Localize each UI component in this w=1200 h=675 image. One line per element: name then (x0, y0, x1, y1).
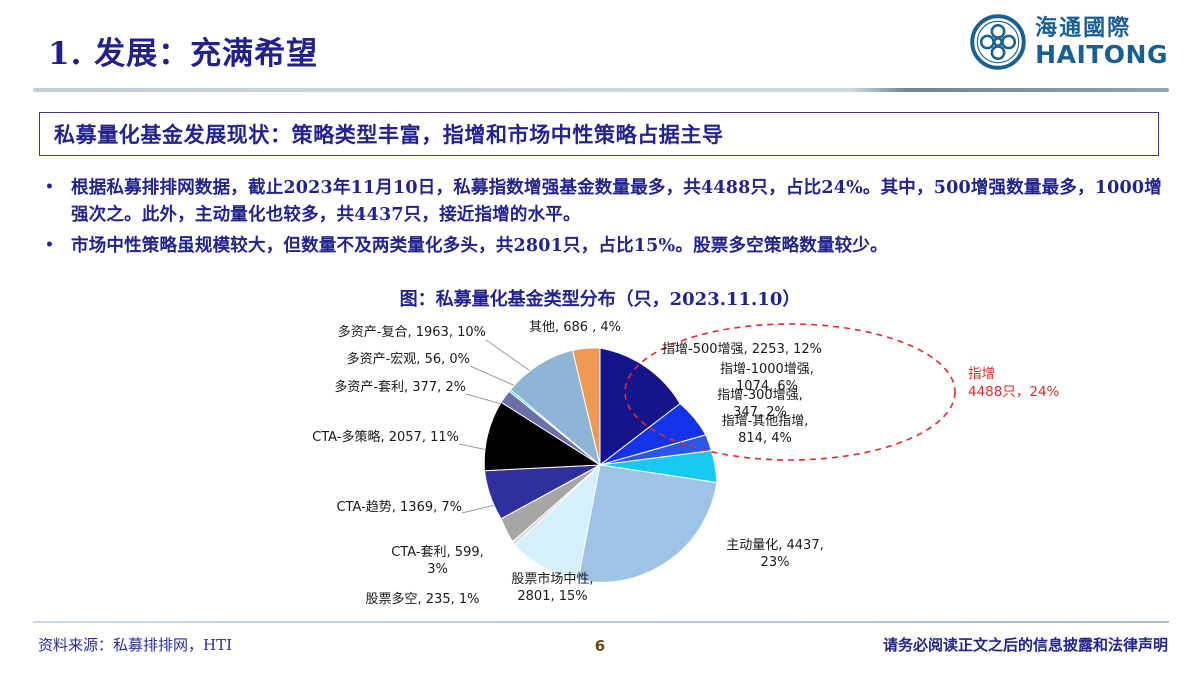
chart-title: 图：私募量化基金类型分布（只，2023.11.10） (0, 285, 1200, 311)
zhizeng-annotation: 指增 4488只，24% (968, 365, 1059, 401)
pie-label-duozichan-taoli: 多资产-套利, 377, 2% (36, 380, 466, 397)
pie-label-duozichan-hongguan: 多资产-宏观, 56, 0% (36, 352, 470, 369)
bullet-marker-icon: • (45, 175, 71, 200)
footer-divider (33, 621, 1169, 623)
pie-label-shichang-zhongxing-line1: 股票市场中性, (511, 572, 593, 587)
bullet-marker-icon: • (45, 233, 71, 258)
bullet-text: 根据私募排排网数据，截止2023年11月10日，私募指数增强基金数量最多，共44… (71, 175, 1170, 229)
pie-label-zhizeng-other-line1: 指增-其他指增, (722, 414, 809, 429)
page-title: 1. 发展：充满希望 (48, 28, 318, 73)
pie-label-zhizeng-other-line2: 814, 4% (738, 431, 792, 446)
logo-text-en: HAITONG (1035, 42, 1168, 67)
pie-label-cta-duocelue: CTA-多策略, 2057, 11% (36, 430, 459, 447)
pie-label-zhudong-line2: 23% (761, 555, 790, 570)
pie-chart: 多资产-复合, 1963, 10% 多资产-宏观, 56, 0% 多资产-套利,… (0, 310, 1200, 620)
disclaimer-note: 请务必阅读正文之后的信息披露和法律声明 (883, 634, 1168, 655)
logo-wordmark: 海通國際 HAITONG (1035, 18, 1168, 67)
bullet-text: 市场中性策略虽规模较大，但数量不及两类量化多头，共2801只，占比15%。股票多… (71, 233, 1170, 260)
zhizeng-annotation-line2: 4488只，24% (968, 384, 1059, 400)
pie-label-shichang-zhongxing: 股票市场中性, 2801, 15% (470, 572, 635, 605)
pie-label-zhudong-line1: 主动量化, 4437, (726, 538, 823, 553)
zhizeng-annotation-line1: 指增 (968, 366, 995, 382)
pie-label-zhizeng-300-line1: 指增-300增强, (717, 388, 803, 403)
pie-label-qita: 其他, 686 , 4% (485, 320, 665, 337)
slide: 1. 发展：充满希望 海通國際 HAITONG 私募量化基金发展现状：策略类型丰… (0, 0, 1200, 675)
bullet-list: • 根据私募排排网数据，截止2023年11月10日，私募指数增强基金数量最多，共… (45, 175, 1170, 264)
pie-label-zhudong-lianghua: 主动量化, 4437, 23% (690, 538, 860, 571)
pie-label-duozichan-fuhe: 多资产-复合, 1963, 10% (36, 325, 486, 342)
pie-label-cta-qushi: CTA-趋势, 1369, 7% (36, 500, 462, 517)
pie-label-zhizeng-other: 指增-其他指增, 814, 4% (660, 414, 870, 447)
pie-label-shichang-zhongxing-line2: 2801, 15% (517, 589, 587, 604)
section-banner: 私募量化基金发展现状：策略类型丰富，指增和市场中性策略占据主导 (39, 112, 1159, 156)
section-banner-text: 私募量化基金发展现状：策略类型丰富，指增和市场中性策略占据主导 (40, 119, 724, 149)
pie-label-cta-taoli-line1: CTA-套利, 599, (391, 545, 484, 560)
logo-text-cn: 海通國際 (1035, 18, 1168, 40)
pie-label-zhizeng-500: 指增-500增强, 2253, 12% (662, 342, 822, 359)
pie-label-cta-taoli-line2: 3% (427, 562, 448, 577)
pie-label-zhizeng-1000-line1: 指增-1000增强, (720, 362, 814, 377)
haitong-knot-emblem-icon (970, 14, 1026, 70)
list-item: • 市场中性策略虽规模较大，但数量不及两类量化多头，共2801只，占比15%。股… (45, 233, 1170, 260)
haitong-logo: 海通國際 HAITONG (970, 14, 1168, 70)
header-divider (33, 88, 1169, 92)
list-item: • 根据私募排排网数据，截止2023年11月10日，私募指数增强基金数量最多，共… (45, 175, 1170, 229)
